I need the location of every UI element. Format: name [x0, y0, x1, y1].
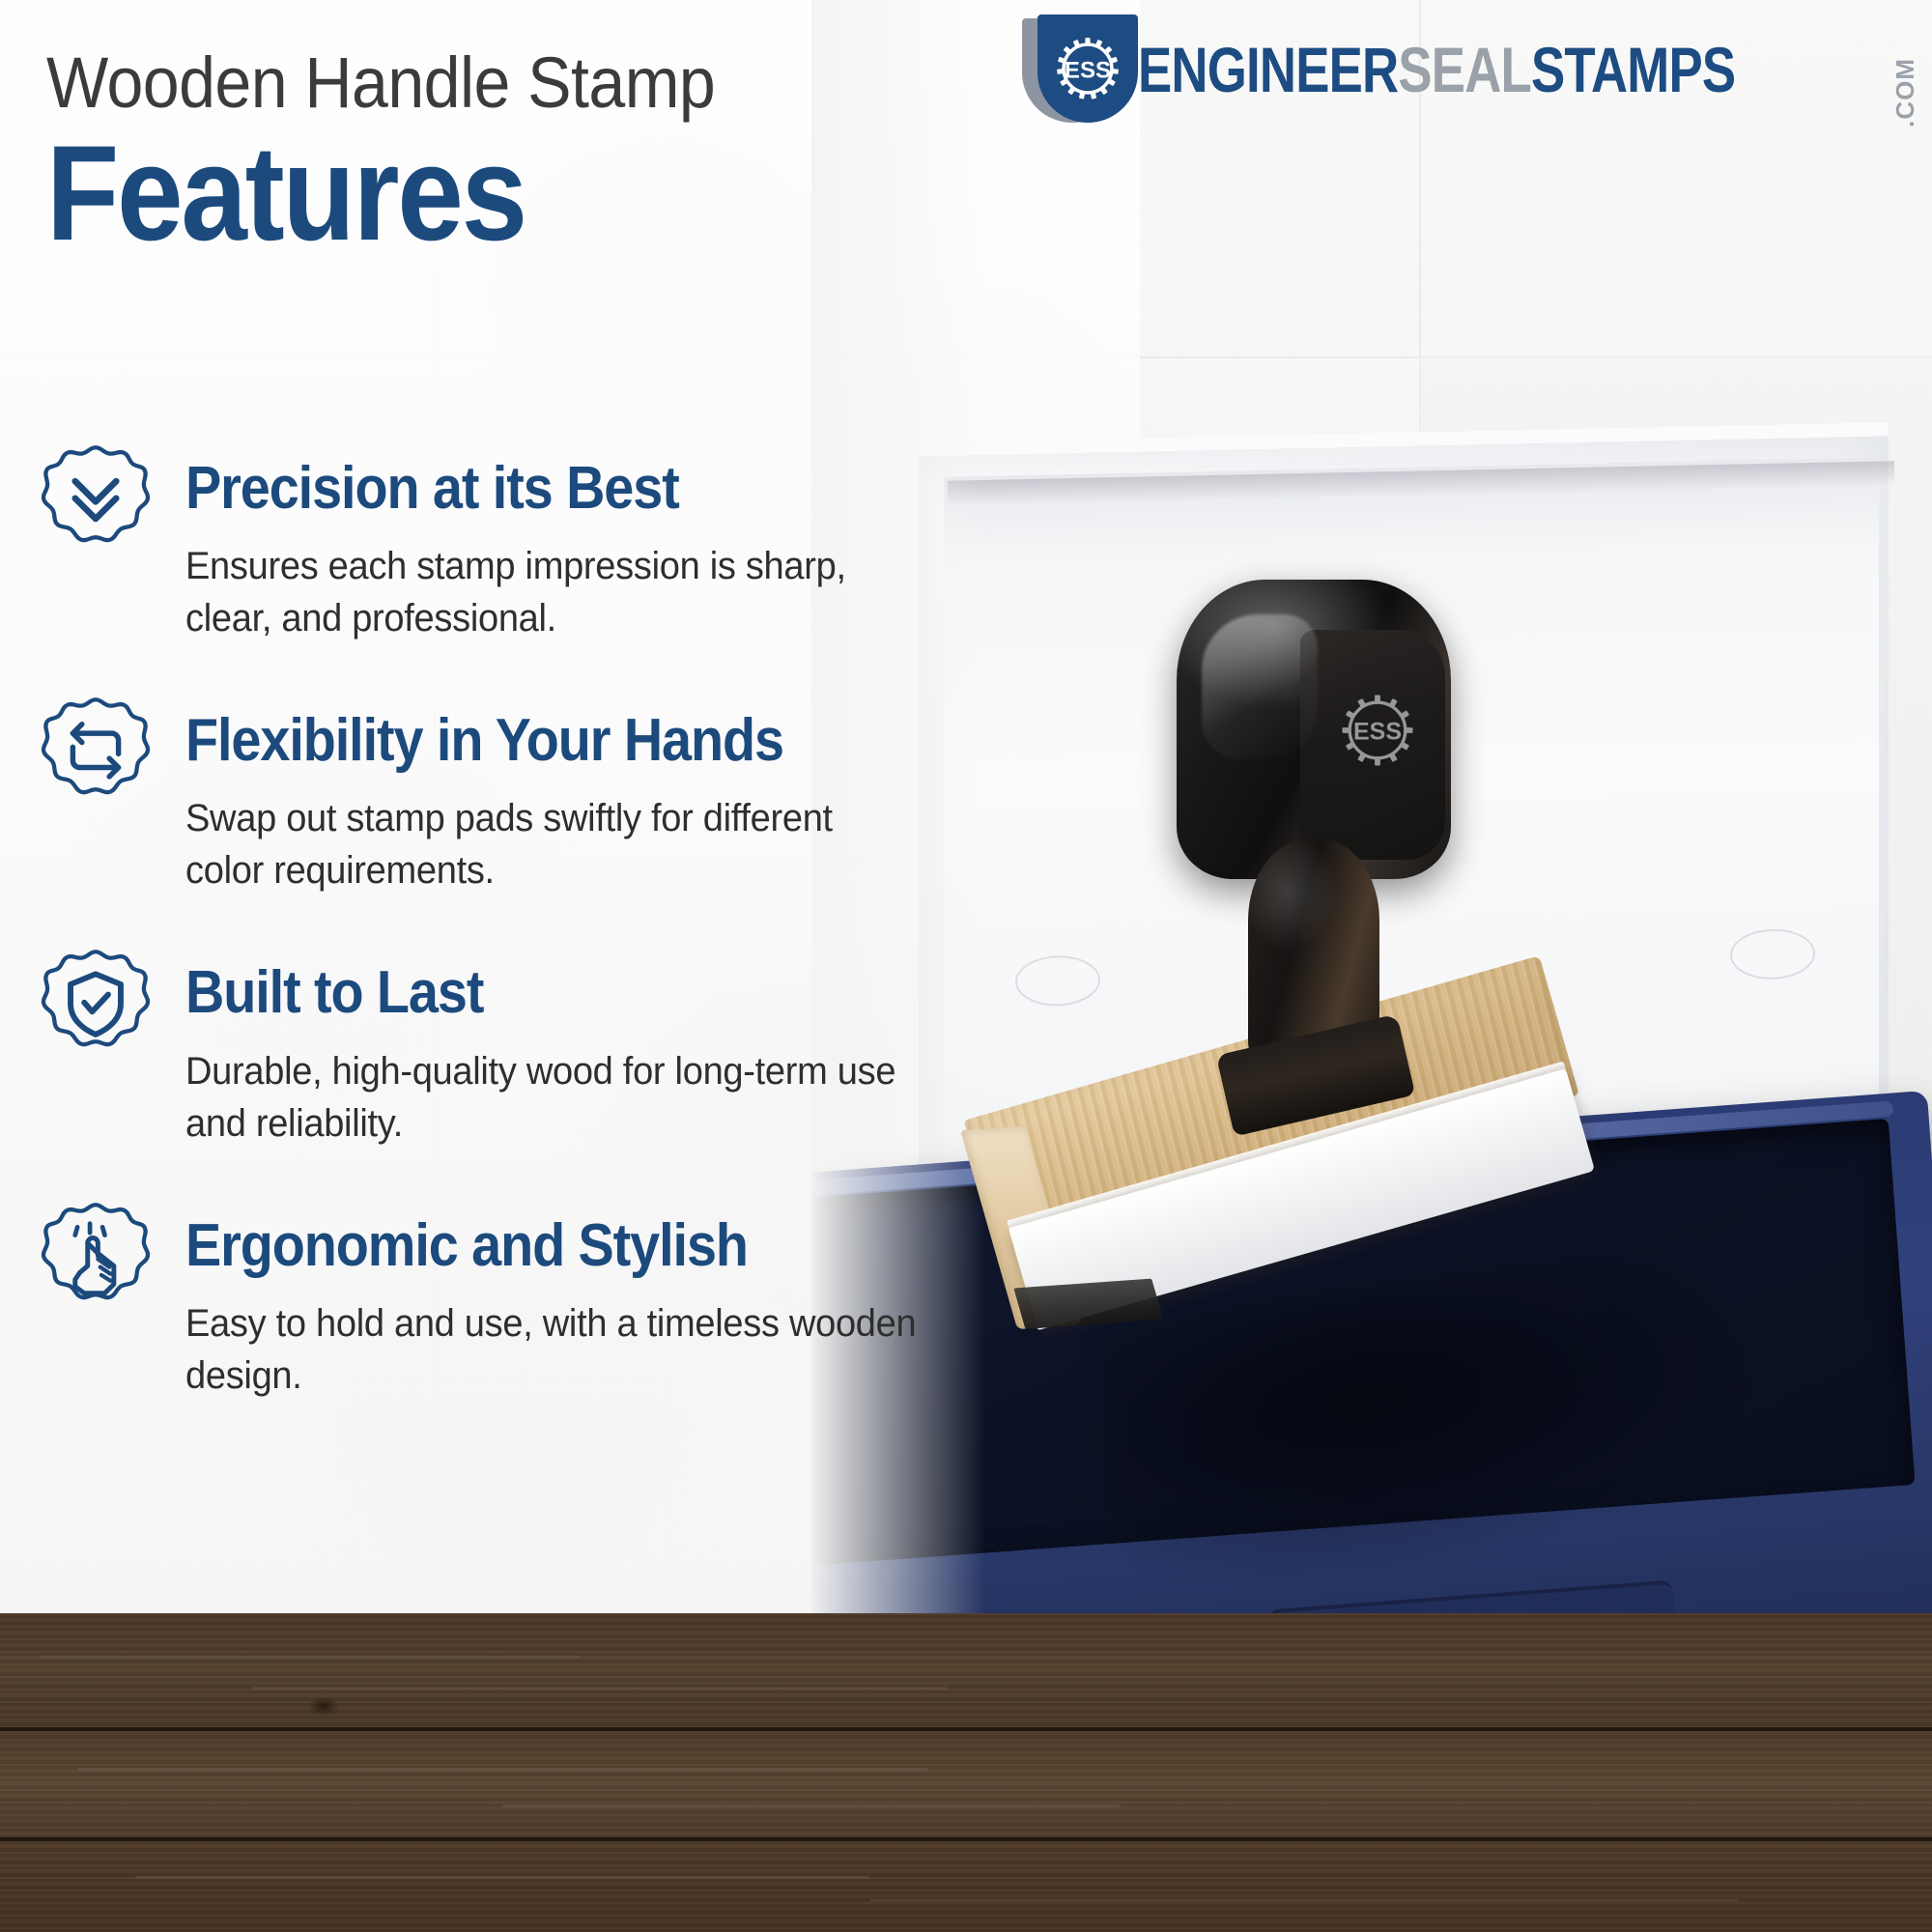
- shield-front: ESS: [1037, 14, 1138, 123]
- brand-word-engineer: ENGINEER: [1138, 38, 1398, 101]
- brand-word-seal: SEAL: [1398, 38, 1531, 101]
- double-chevron-down-badge-icon: [39, 442, 153, 556]
- feature-text: Built to Last Durable, high-quality wood…: [153, 956, 1014, 1149]
- brand-word-stamps: STAMPS: [1531, 38, 1735, 101]
- tap-hand-badge-icon: [39, 1200, 153, 1314]
- swap-arrows-badge-icon: [39, 695, 153, 809]
- feature-description: Ensures each stamp impression is sharp, …: [185, 540, 920, 644]
- feature-item: Ergonomic and Stylish Easy to hold and u…: [39, 1209, 1014, 1402]
- page-subtitle: Wooden Handle Stamp: [46, 46, 1024, 119]
- shield-check-badge-icon: [39, 947, 153, 1061]
- feature-item: Flexibility in Your Hands Swap out stamp…: [39, 704, 1014, 896]
- feature-description: Durable, high-quality wood for long-term…: [185, 1045, 920, 1150]
- feature-description: Swap out stamp pads swiftly for differen…: [185, 792, 920, 896]
- feature-title: Built to Last: [185, 962, 931, 1023]
- svg-text:ESS: ESS: [1353, 719, 1402, 746]
- feature-item: Built to Last Durable, high-quality wood…: [39, 956, 1014, 1149]
- stamp-handle: ESS: [1169, 580, 1459, 1101]
- feature-item: Precision at its Best Ensures each stamp…: [39, 452, 1014, 644]
- feature-text: Precision at its Best Ensures each stamp…: [153, 452, 1014, 644]
- feature-title: Ergonomic and Stylish: [185, 1215, 931, 1276]
- gear-ring-icon: ESS: [1046, 27, 1129, 110]
- page-title: Features: [46, 127, 981, 259]
- feature-title: Flexibility in Your Hands: [185, 710, 931, 771]
- feature-description: Easy to hold and use, with a timeless wo…: [185, 1297, 920, 1402]
- brand-wordmark: ENGINEER SEAL STAMPS: [1138, 38, 1735, 101]
- handle-ess-gear-icon: ESS: [1331, 684, 1424, 777]
- wood-table-surface: [0, 1613, 1932, 1932]
- feature-text: Flexibility in Your Hands Swap out stamp…: [153, 704, 1014, 896]
- brand-word-dotcom: .COM: [1890, 58, 1920, 128]
- brand-logo[interactable]: ESS ENGINEER SEAL STAMPS .COM: [1016, 8, 1920, 131]
- ess-monogram: ESS: [1065, 57, 1111, 83]
- features-list: Precision at its Best Ensures each stamp…: [39, 452, 1014, 1402]
- feature-title: Precision at its Best: [185, 458, 931, 519]
- header: Wooden Handle Stamp Features: [46, 46, 1109, 260]
- handle-highlight: [1202, 614, 1318, 759]
- feature-text: Ergonomic and Stylish Easy to hold and u…: [153, 1209, 1014, 1402]
- infographic-canvas: ESS Wooden Handle Stamp Features: [0, 0, 1932, 1932]
- ess-shield-icon: ESS: [1016, 11, 1142, 128]
